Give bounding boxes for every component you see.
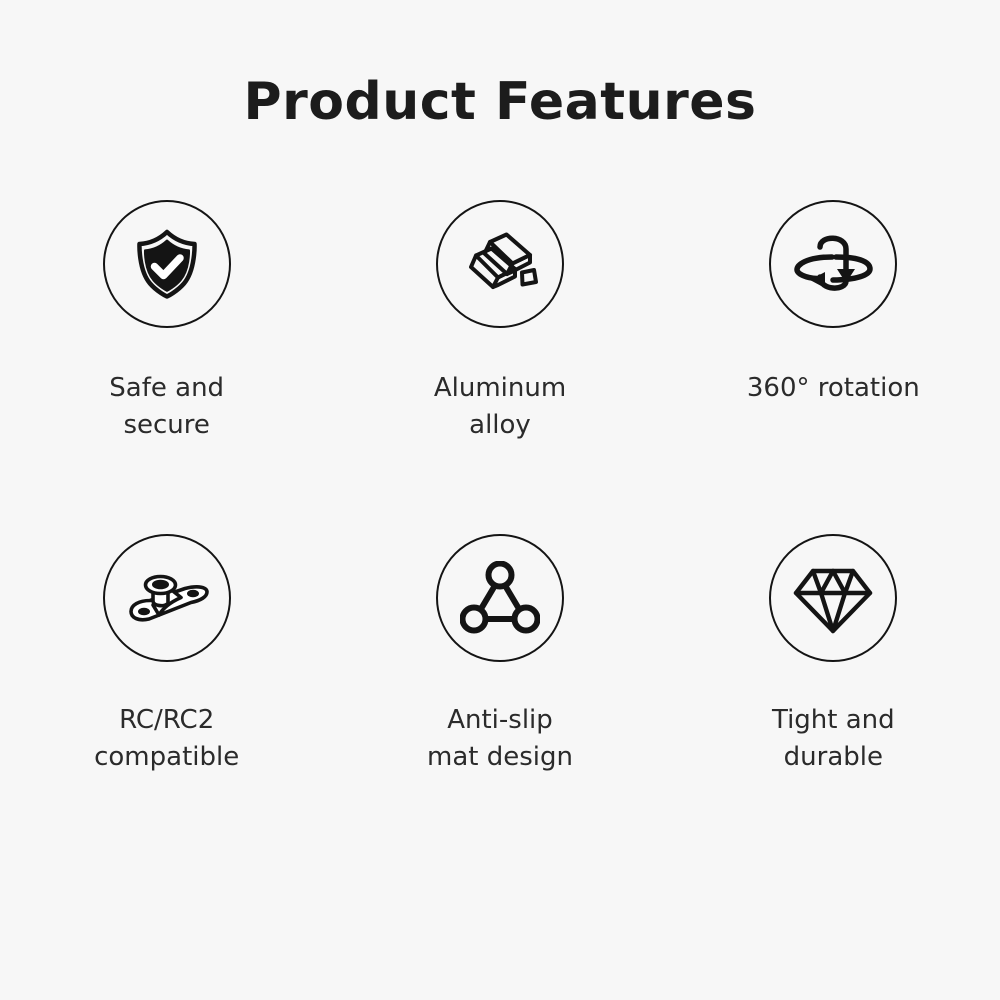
feature-item-rc-rc2-compatible: RC/RC2 compatible: [0, 534, 333, 778]
feature-item-safe-and-secure: Safe and secure: [0, 200, 333, 444]
feature-label: 360° rotation: [747, 370, 920, 407]
feature-label: Aluminum alloy: [434, 370, 566, 444]
page-title: Product Features: [0, 74, 1000, 131]
feature-item-tight-and-durable: Tight and durable: [667, 534, 1000, 778]
feature-label: RC/RC2 compatible: [94, 702, 239, 776]
feature-label: Tight and durable: [772, 702, 895, 776]
triangle-nodes-icon: [436, 534, 564, 662]
mounting-bracket-icon: [103, 534, 231, 662]
feature-label: Anti-slip mat design: [427, 702, 573, 776]
features-grid: Safe and secure: [0, 200, 1000, 778]
diamond-icon: [769, 534, 897, 662]
rotation-360-icon: [769, 200, 897, 328]
feature-item-anti-slip-mat-design: Anti-slip mat design: [333, 534, 666, 778]
feature-label: Safe and secure: [109, 370, 224, 444]
shield-check-icon: [103, 200, 231, 328]
aluminum-ingots-icon: [436, 200, 564, 328]
product-features-infographic: Product Features Safe and secure: [0, 0, 1000, 1000]
feature-item-360-rotation: 360° rotation: [667, 200, 1000, 444]
feature-item-aluminum-alloy: Aluminum alloy: [333, 200, 666, 444]
